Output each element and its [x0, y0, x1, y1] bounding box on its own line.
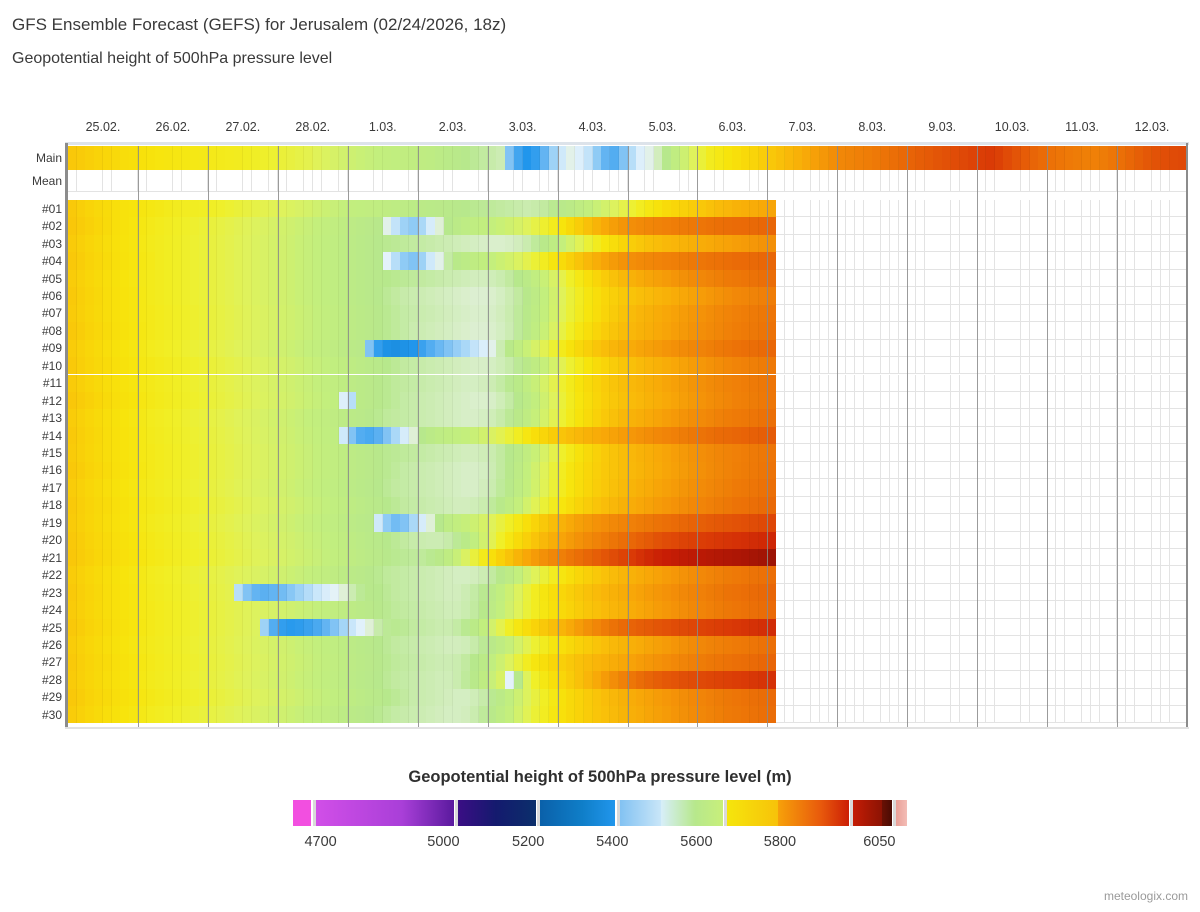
- heatmap-cell: [1178, 200, 1187, 217]
- colorbar-segment-10: [725, 800, 778, 826]
- colorbar-tick-4700: 4700: [304, 834, 336, 850]
- date-tick-5: 2.03.: [439, 120, 467, 134]
- heatmap-cell: [1178, 619, 1187, 636]
- row-label-m11: #11: [43, 377, 62, 389]
- date-tick-10: 7.03.: [788, 120, 816, 134]
- row-label-m03: #03: [42, 238, 62, 250]
- colorbar-segment-13: [851, 800, 882, 826]
- heatmap-cell: [1178, 479, 1187, 496]
- colorbar-divider-1: [455, 800, 458, 826]
- heatmap-cell: [1178, 305, 1187, 322]
- day-separator: [418, 146, 419, 728]
- date-tick-13: 10.03.: [995, 120, 1030, 134]
- footer-attribution: meteologix.com: [1104, 889, 1188, 903]
- row-label-m27: #27: [42, 656, 62, 668]
- day-separator: [1117, 146, 1118, 728]
- colorbar-segment-6: [582, 800, 616, 826]
- heatmap-cell: [1178, 340, 1187, 357]
- row-label-main: Main: [36, 152, 62, 164]
- day-separator: [138, 146, 139, 728]
- heatmap-cell: [1178, 532, 1187, 549]
- heatmap-cell: [1178, 689, 1187, 706]
- date-tick-15: 12.03.: [1135, 120, 1170, 134]
- row-label-m19: #19: [42, 517, 62, 529]
- row-label-m28: #28: [42, 674, 62, 686]
- colorbar-tick-5600: 5600: [680, 834, 712, 850]
- colorbar-divider-0: [313, 800, 316, 826]
- colorbar-segment-9: [695, 800, 723, 826]
- colorbar-segment-1: [314, 800, 402, 826]
- heatmap-cell: [1178, 549, 1187, 566]
- row-label-m06: #06: [42, 290, 62, 302]
- colorbar-segment-2: [402, 800, 454, 826]
- heatmap-cell: [1178, 584, 1187, 601]
- colorbar-segment-12: [821, 800, 849, 826]
- row-label-m02: #02: [42, 220, 62, 232]
- day-separator: [767, 146, 768, 728]
- date-tick-9: 6.03.: [719, 120, 747, 134]
- row-label-m16: #16: [42, 464, 62, 476]
- heatmap-cell: [1178, 409, 1187, 426]
- heatmap-cell: [1178, 497, 1187, 514]
- heatmap-cell: [1178, 357, 1187, 374]
- date-tick-3: 28.02.: [295, 120, 330, 134]
- date-axis: 25.02.26.02.27.02.28.02.1.03.2.03.3.03.4…: [68, 120, 1187, 144]
- row-label-m15: #15: [42, 447, 62, 459]
- date-tick-1: 26.02.: [156, 120, 191, 134]
- date-tick-4: 1.03.: [369, 120, 397, 134]
- grid-bottom-rule: [65, 727, 1189, 729]
- colorbar-segment-0: [293, 800, 311, 826]
- heatmap-cell: [1178, 427, 1187, 444]
- row-label-m20: #20: [42, 534, 62, 546]
- colorbar-tick-5400: 5400: [596, 834, 628, 850]
- row-label-m01: #01: [42, 203, 62, 215]
- colorbar-segment-14: [882, 800, 891, 826]
- date-tick-2: 27.02.: [225, 120, 260, 134]
- colorbar-tick-5200: 5200: [512, 834, 544, 850]
- colorbar-segment-7: [618, 800, 662, 826]
- colorbar-divider-5: [850, 800, 853, 826]
- day-separator: [837, 146, 838, 728]
- row-label-m09: #09: [42, 342, 62, 354]
- colorbar-segment-15: [894, 800, 907, 826]
- day-separator: [1047, 146, 1048, 728]
- heatmap-cell: [1178, 322, 1187, 339]
- row-label-m23: #23: [42, 587, 62, 599]
- ensemble-heatmap-chart: 25.02.26.02.27.02.28.02.1.03.2.03.3.03.4…: [0, 0, 1200, 760]
- colorbar-divider-6: [893, 800, 896, 826]
- heatmap-cell: [1178, 654, 1187, 671]
- row-label-m24: #24: [42, 604, 62, 616]
- day-separator: [558, 146, 559, 728]
- date-tick-0: 25.02.: [86, 120, 121, 134]
- row-label-m10: #10: [42, 360, 62, 372]
- day-separator: [977, 146, 978, 728]
- day-separator: [348, 146, 349, 728]
- row-label-m12: #12: [42, 395, 62, 407]
- heatmap-cell: [1178, 706, 1187, 723]
- heatmap-cell: [1178, 566, 1187, 583]
- heatmap-cell: [1178, 146, 1187, 170]
- heatmap-cell: [1178, 514, 1187, 531]
- heatmap-cell: [1178, 287, 1187, 304]
- row-label-m14: #14: [42, 430, 62, 442]
- date-tick-12: 9.03.: [928, 120, 956, 134]
- heatmap-cell: [1178, 636, 1187, 653]
- row-label-m29: #29: [42, 691, 62, 703]
- legend-title: Geopotential height of 500hPa pressure l…: [408, 768, 791, 787]
- heatmap-cell: [1178, 392, 1187, 409]
- row-label-m22: #22: [42, 569, 62, 581]
- date-tick-14: 11.03.: [1065, 120, 1099, 134]
- date-tick-6: 3.03.: [509, 120, 537, 134]
- colorbar-tick-6050: 6050: [863, 834, 895, 850]
- day-separator: [488, 146, 489, 728]
- colorbar-segment-11: [778, 800, 821, 826]
- day-separator: [697, 146, 698, 728]
- day-separator: [208, 146, 209, 728]
- row-label-m25: #25: [42, 622, 62, 634]
- heatmap-cell: [1178, 601, 1187, 618]
- colorbar-tick-5000: 5000: [427, 834, 459, 850]
- heatmap-cell: [1178, 462, 1187, 479]
- row-label-m21: #21: [42, 552, 62, 564]
- colorbar: [293, 800, 907, 826]
- colorbar-divider-2: [537, 800, 540, 826]
- day-separator: [278, 146, 279, 728]
- row-label-m13: #13: [42, 412, 62, 424]
- heatmap-cell: [1178, 375, 1187, 392]
- colorbar-tick-5800: 5800: [764, 834, 796, 850]
- row-label-m04: #04: [42, 255, 62, 267]
- heatmap-cell: [1178, 235, 1187, 252]
- row-label-m30: #30: [42, 709, 62, 721]
- row-label-m08: #08: [42, 325, 62, 337]
- row-label-m18: #18: [42, 499, 62, 511]
- day-separator: [628, 146, 629, 728]
- colorbar-segment-8: [661, 800, 695, 826]
- colorbar-divider-3: [617, 800, 620, 826]
- grid-top-rule: [65, 142, 1189, 145]
- row-label-m26: #26: [42, 639, 62, 651]
- colorbar-tick-labels: 4700500052005400560058006050: [293, 834, 907, 854]
- date-tick-8: 5.03.: [649, 120, 677, 134]
- heatmap-cell: [1178, 671, 1187, 688]
- colorbar-segment-3: [456, 800, 495, 826]
- legend: Geopotential height of 500hPa pressure l…: [0, 760, 1200, 880]
- row-label-m17: #17: [42, 482, 62, 494]
- colorbar-segment-5: [538, 800, 582, 826]
- date-tick-11: 8.03.: [858, 120, 886, 134]
- day-separator: [907, 146, 908, 728]
- heatmap-cell: [1178, 270, 1187, 287]
- colorbar-divider-4: [724, 800, 727, 826]
- heatmap-cell: [1178, 217, 1187, 234]
- row-label-mean: Mean: [32, 175, 62, 187]
- row-label-m05: #05: [42, 273, 62, 285]
- heatmap-grid: [68, 146, 1187, 728]
- heatmap-cell: [1178, 170, 1187, 192]
- row-label-m07: #07: [42, 307, 62, 319]
- colorbar-segment-4: [496, 800, 536, 826]
- heatmap-cell: [1178, 444, 1187, 461]
- heatmap-cell: [1178, 252, 1187, 269]
- date-tick-7: 4.03.: [579, 120, 607, 134]
